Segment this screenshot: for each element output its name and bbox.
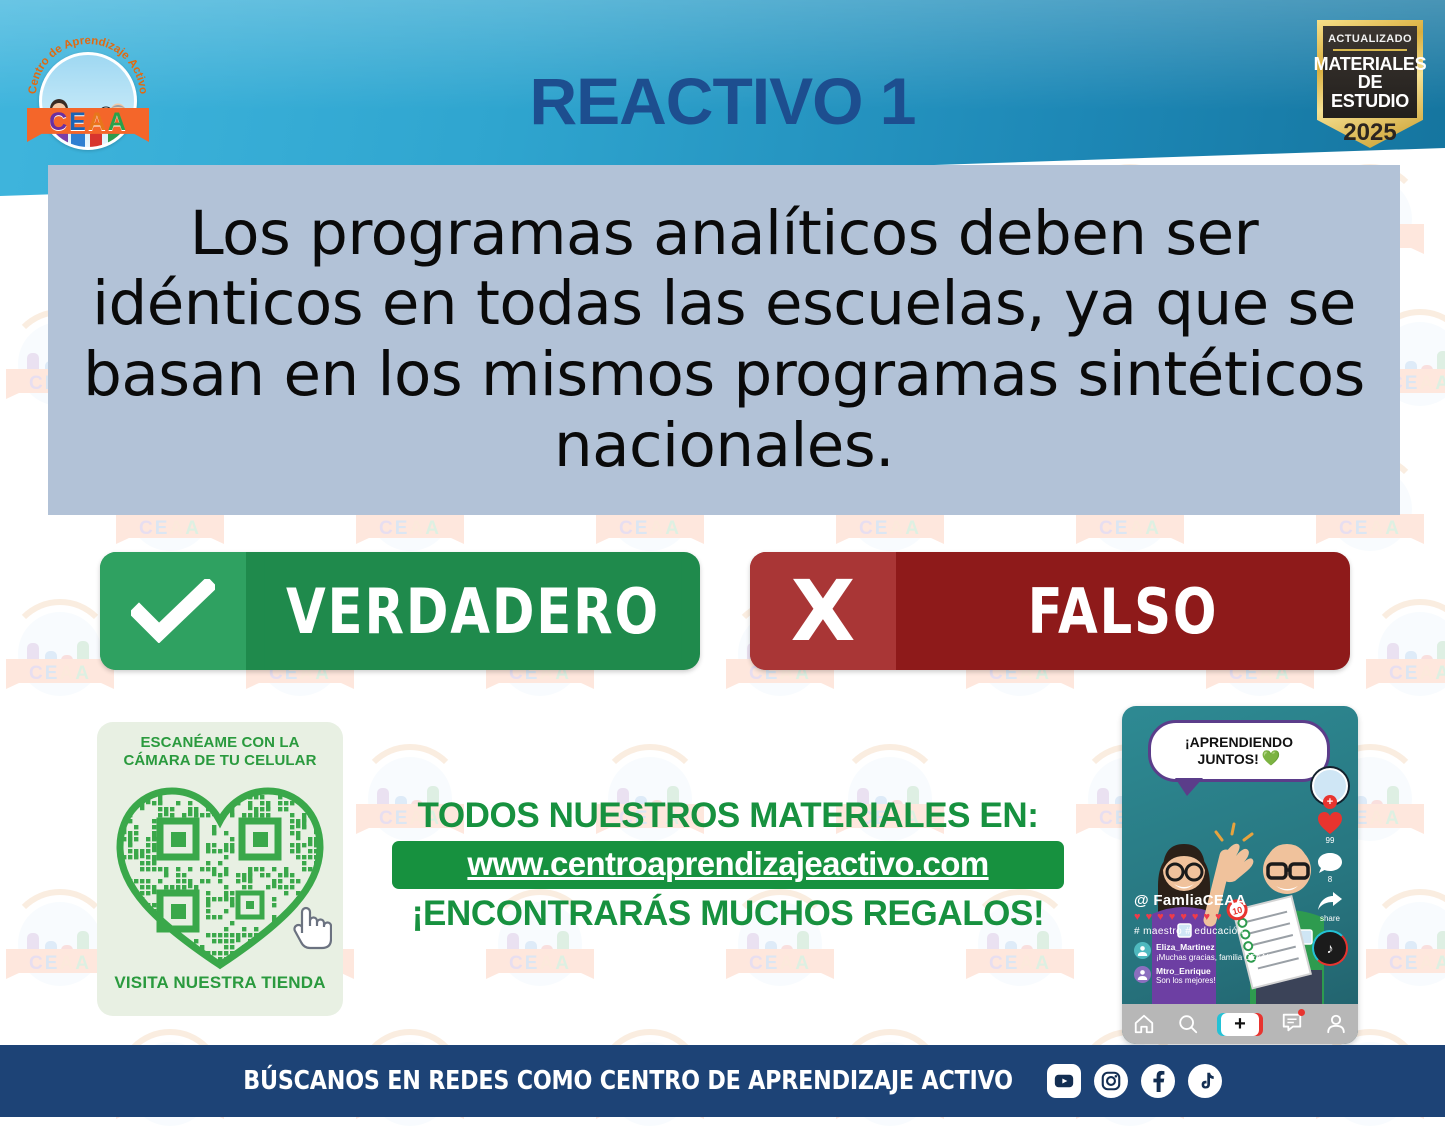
- commenter-name: Mtro_Enrique: [1156, 966, 1216, 976]
- commenter-avatar-icon: [1134, 966, 1151, 983]
- add-icon[interactable]: +: [1221, 1013, 1259, 1036]
- like-action[interactable]: 99: [1317, 811, 1343, 845]
- question-box: Los programas analíticos deben ser idént…: [48, 165, 1400, 515]
- comment-action[interactable]: 8: [1317, 852, 1343, 884]
- heart-row: ♥ ♥ ♥ ♥ ♥ ♥ ♥ ♥: [1134, 911, 1304, 923]
- qr-store-label: VISITA NUESTRA TIENDA: [114, 973, 325, 993]
- account-handle[interactable]: @ FamliaCEAA: [1134, 892, 1304, 909]
- facebook-icon[interactable]: [1141, 1064, 1175, 1098]
- answer-button-verdadero[interactable]: VERDADERO: [100, 552, 700, 670]
- share-label: share: [1320, 914, 1340, 923]
- answer-button-falso[interactable]: X FALSO: [750, 552, 1350, 670]
- heart-qr-code[interactable]: [114, 775, 326, 971]
- badge-year: 2025: [1317, 119, 1423, 147]
- social-action-rail: + 99 8 share ♪: [1308, 768, 1352, 966]
- inbox-wrap[interactable]: [1281, 1011, 1303, 1038]
- qr-instruction-line-2: CÁMARA DE TU CELULAR: [123, 752, 316, 770]
- bubble-line-2: JUNTOS!: [1198, 751, 1259, 767]
- promo-block: TODOS NUESTROS MATERIALES EN: www.centro…: [392, 796, 1064, 934]
- commenter-avatar-icon: [1134, 942, 1151, 959]
- answer-label-verdadero: VERDADERO: [264, 552, 682, 670]
- badge-line-2: MATERIALES: [1314, 55, 1427, 73]
- badge-line-1: ACTUALIZADO: [1328, 33, 1412, 45]
- hand-pointer-icon: [288, 903, 332, 953]
- comment-text: Son los mejores!: [1156, 976, 1216, 986]
- heart-icon: [1317, 811, 1343, 835]
- qr-store-card[interactable]: ESCANÉAME CON LA CÁMARA DE TU CELULAR: [97, 722, 343, 1016]
- watermark-logo: CEAA: [1360, 869, 1445, 981]
- search-icon[interactable]: [1177, 1013, 1199, 1035]
- follow-plus-icon[interactable]: +: [1323, 795, 1337, 809]
- page-title: REACTIVO 1: [0, 63, 1445, 139]
- share-arrow-icon: [1317, 891, 1343, 913]
- green-heart-icon: 💚: [1262, 750, 1281, 767]
- promo-line-3: ¡ENCONTRARÁS MUCHOS REGALOS!: [392, 894, 1064, 934]
- profile-icon[interactable]: [1325, 1013, 1347, 1035]
- badge-divider: [1333, 49, 1407, 51]
- question-text: Los programas analíticos deben ser idént…: [70, 199, 1378, 482]
- tiktok-icon[interactable]: [1188, 1064, 1222, 1098]
- badge-line-3: DE ESTUDIO: [1323, 73, 1417, 110]
- x-glyph: X: [791, 569, 856, 653]
- answer-options: VERDADERO X FALSO: [100, 552, 1350, 670]
- speech-bubble: ¡APRENDIENDO JUNTOS! 💚: [1148, 720, 1330, 782]
- instagram-icon[interactable]: [1094, 1064, 1128, 1098]
- notification-dot: [1298, 1009, 1305, 1016]
- x-icon: X: [750, 552, 896, 670]
- watermark-logo: CEAA: [1360, 579, 1445, 691]
- music-note-glyph: ♪: [1327, 940, 1334, 956]
- bubble-line-2-wrap: JUNTOS! 💚: [1198, 750, 1281, 767]
- footer-bar: BÚSCANOS EN REDES COMO CENTRO DE APRENDI…: [0, 1045, 1445, 1117]
- share-action[interactable]: share: [1317, 891, 1343, 923]
- music-disc-icon[interactable]: ♪: [1312, 930, 1348, 966]
- comment-bubble-icon: [1317, 852, 1343, 874]
- list-item: Eliza_Martinez ¡Muchas gracias, familia …: [1134, 942, 1304, 962]
- qr-instruction: ESCANÉAME CON LA CÁMARA DE TU CELULAR: [123, 734, 316, 771]
- qr-instruction-line-1: ESCANÉAME CON LA: [123, 734, 316, 752]
- hashtags[interactable]: # maestro # educación: [1134, 926, 1304, 937]
- footer-text: BÚSCANOS EN REDES COMO CENTRO DE APRENDI…: [244, 1066, 1014, 1096]
- check-icon: [100, 552, 246, 670]
- youtube-icon[interactable]: [1047, 1064, 1081, 1098]
- commenter-name: Eliza_Martinez: [1156, 942, 1268, 952]
- updated-materials-badge: ACTUALIZADO MATERIALES DE ESTUDIO 2025: [1317, 20, 1423, 148]
- phone-bottom-nav: +: [1122, 1004, 1358, 1044]
- comment-body: Mtro_Enrique Son los mejores!: [1156, 966, 1216, 986]
- comment-body: Eliza_Martinez ¡Muchas gracias, familia …: [1156, 942, 1268, 962]
- list-item: Mtro_Enrique Son los mejores!: [1134, 966, 1304, 986]
- answer-label-falso: FALSO: [914, 552, 1332, 670]
- comment-text: ¡Muchas gracias, familia CEAA!: [1156, 953, 1268, 963]
- home-icon[interactable]: [1133, 1013, 1155, 1035]
- avatar[interactable]: +: [1312, 768, 1348, 804]
- social-media-card[interactable]: ¡APRENDIENDO JUNTOS! 💚: [1122, 706, 1358, 1044]
- comment-count: 8: [1328, 875, 1332, 884]
- like-count: 99: [1326, 836, 1335, 845]
- promo-line-1: TODOS NUESTROS MATERIALES EN:: [392, 796, 1064, 836]
- website-link[interactable]: www.centroaprendizajeactivo.com: [392, 841, 1064, 889]
- bubble-line-1: ¡APRENDIENDO: [1185, 734, 1293, 750]
- post-meta: @ FamliaCEAA ♥ ♥ ♥ ♥ ♥ ♥ ♥ ♥ # maestro #…: [1134, 892, 1304, 990]
- badge-inner: ACTUALIZADO MATERIALES DE ESTUDIO: [1323, 26, 1417, 118]
